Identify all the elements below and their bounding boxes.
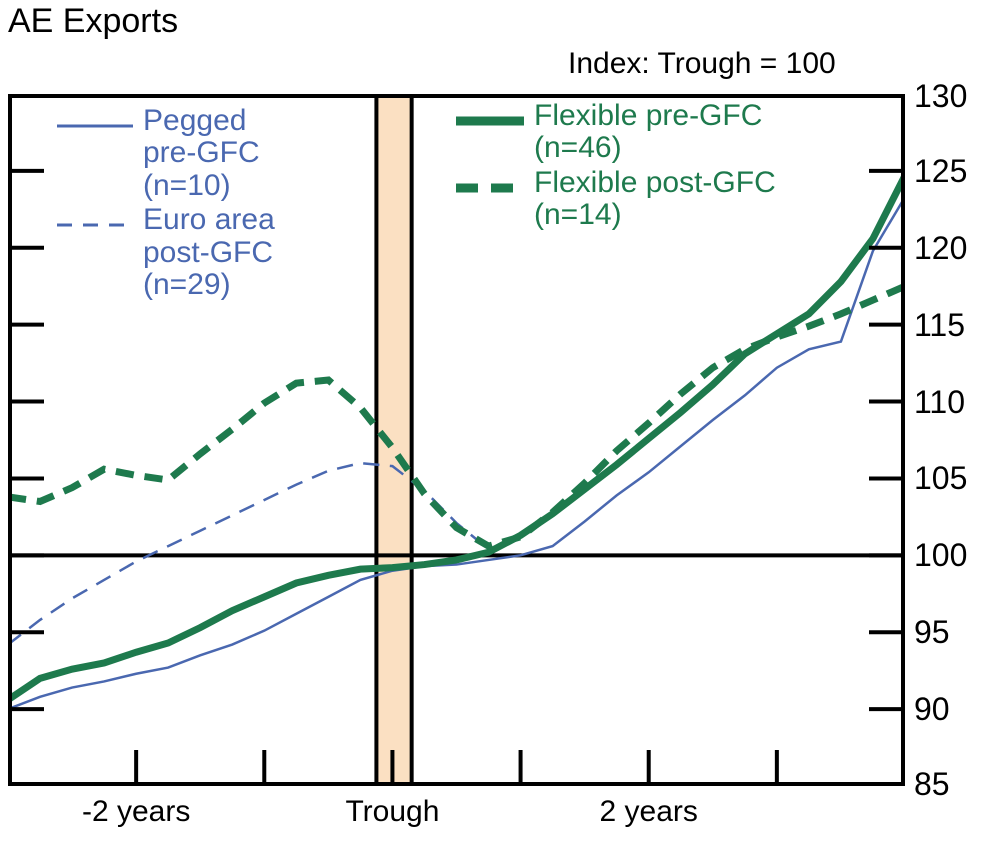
legend-left: Pegged pre-GFC (n=10)Euro area post-GFC … xyxy=(53,105,275,303)
dashed-line-swatch xyxy=(452,167,534,205)
page-title: AE Exports xyxy=(8,2,178,41)
solid-line-swatch xyxy=(53,105,143,143)
chart-subtitle: Index: Trough = 100 xyxy=(568,47,836,81)
y-tick-label-120: 120 xyxy=(914,232,967,264)
y-tick-label-95: 95 xyxy=(914,616,950,648)
legend-item-label: Flexible pre-GFC (n=46) xyxy=(534,100,762,165)
y-tick-label-105: 105 xyxy=(914,462,967,494)
legend-right: Flexible pre-GFC (n=46)Flexible post-GFC… xyxy=(452,100,776,234)
x-tick-label-1: Trough xyxy=(282,795,502,829)
series-line-3 xyxy=(8,286,905,546)
legend-item[interactable]: Flexible post-GFC (n=14) xyxy=(452,167,776,232)
y-tick-label-115: 115 xyxy=(914,309,965,341)
x-tick-label-2: 2 years xyxy=(539,795,759,829)
solid-line-swatch xyxy=(452,100,534,138)
legend-item[interactable]: Flexible pre-GFC (n=46) xyxy=(452,100,776,165)
legend-item-label: Flexible post-GFC (n=14) xyxy=(534,167,776,232)
dashed-line-swatch xyxy=(53,204,143,242)
trough-band xyxy=(376,94,411,786)
trough-band xyxy=(376,94,411,786)
chart-page: AE Exports Index: Trough = 100 859095100… xyxy=(0,0,988,842)
legend-item-label: Euro area post-GFC (n=29) xyxy=(143,204,275,301)
x-tick-label-0: -2 years xyxy=(26,795,246,829)
legend-item[interactable]: Pegged pre-GFC (n=10) xyxy=(53,105,275,202)
y-tick-label-125: 125 xyxy=(914,155,967,187)
legend-item-label: Pegged pre-GFC (n=10) xyxy=(143,105,260,202)
y-tick-label-90: 90 xyxy=(914,693,950,725)
legend-item[interactable]: Euro area post-GFC (n=29) xyxy=(53,204,275,301)
y-tick-label-85: 85 xyxy=(914,768,950,800)
x-axis-ticks xyxy=(10,750,903,784)
y-tick-label-100: 100 xyxy=(914,539,967,571)
y-tick-label-110: 110 xyxy=(914,386,965,418)
y-tick-label-130: 130 xyxy=(914,80,967,112)
